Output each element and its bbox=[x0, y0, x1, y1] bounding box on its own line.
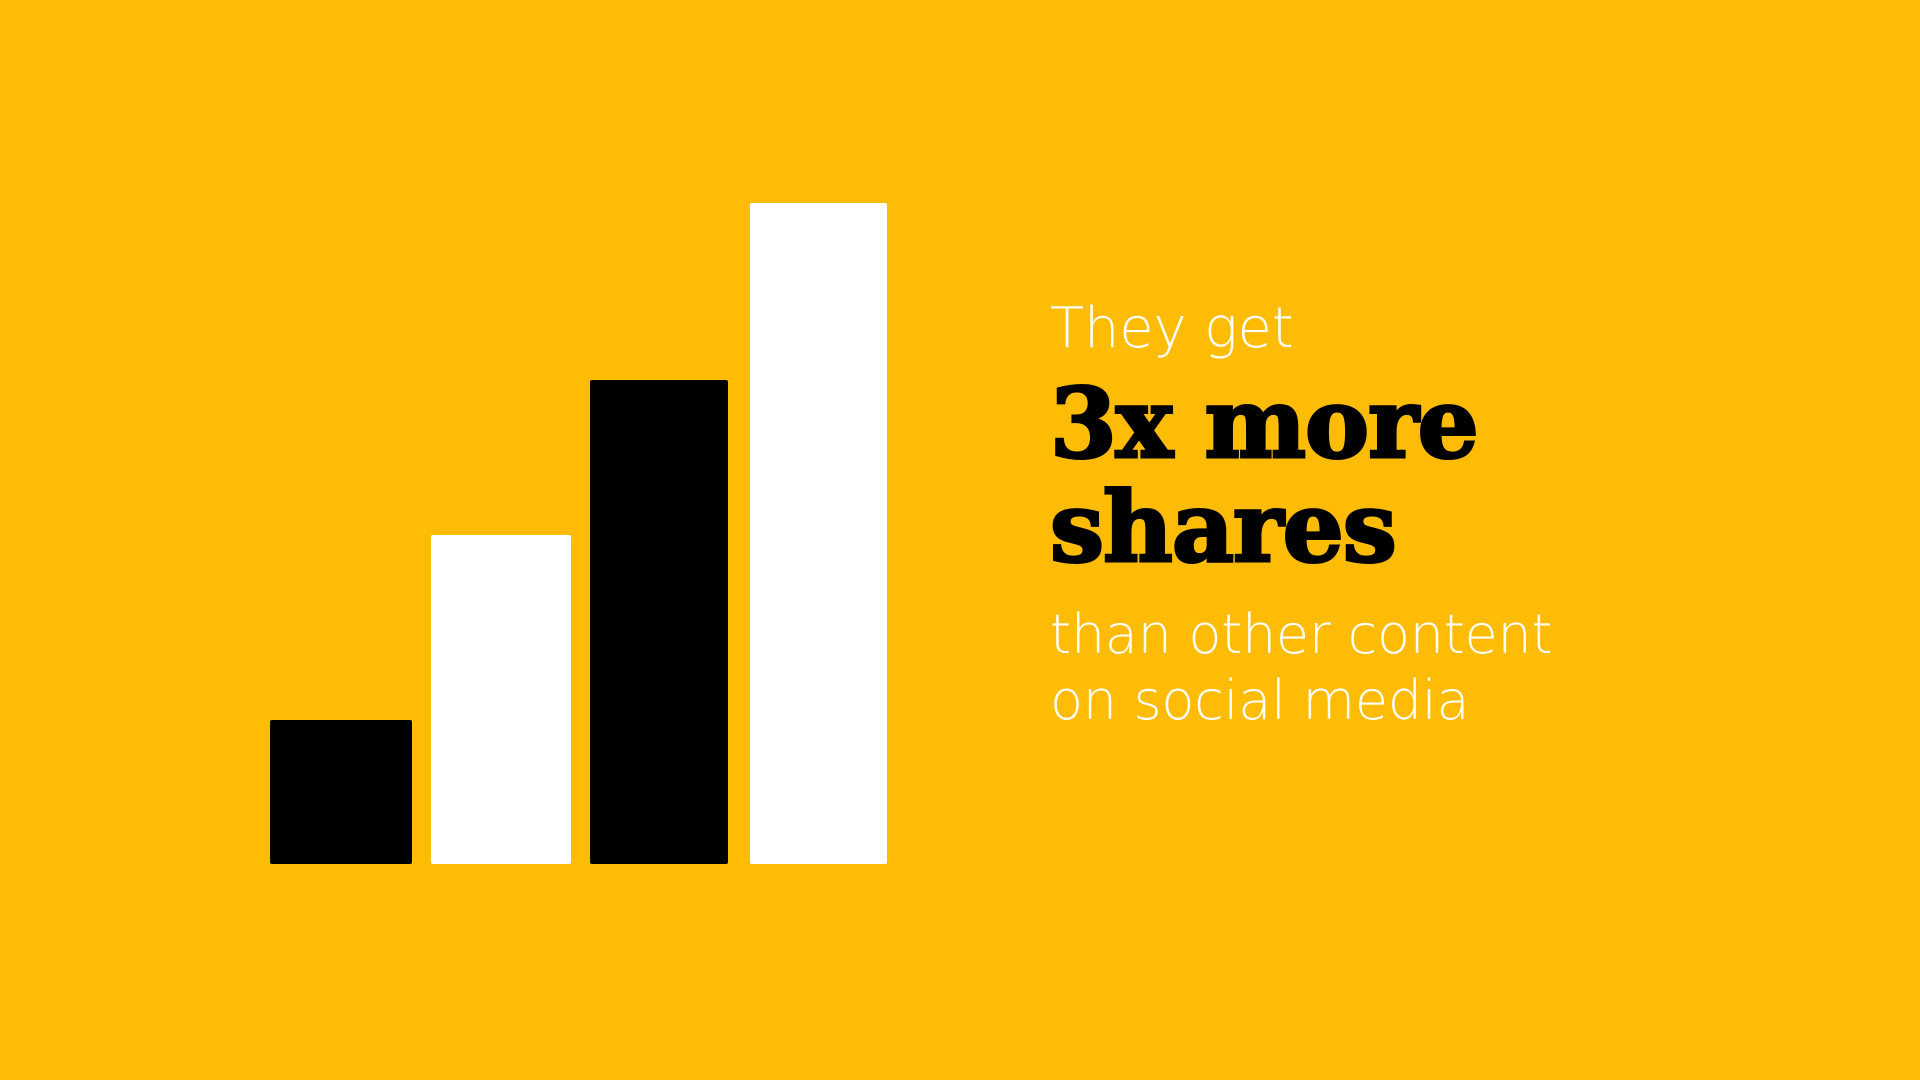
bar-chart bbox=[270, 203, 890, 864]
infographic-slide: They get 3x more shares than other conte… bbox=[0, 0, 1920, 1080]
chart-bar-4 bbox=[750, 203, 887, 864]
headline-line-2: shares bbox=[1050, 476, 1810, 580]
copy-block: They get 3x more shares than other conte… bbox=[1050, 296, 1810, 734]
subline-2: on social media bbox=[1050, 668, 1810, 734]
chart-bar-2 bbox=[431, 535, 571, 864]
chart-bar-3 bbox=[590, 380, 728, 864]
chart-bar-1 bbox=[270, 720, 412, 864]
headline-line-1: 3x more bbox=[1050, 372, 1810, 476]
eyebrow-text: They get bbox=[1050, 296, 1810, 362]
subline-1: than other content bbox=[1050, 602, 1810, 668]
